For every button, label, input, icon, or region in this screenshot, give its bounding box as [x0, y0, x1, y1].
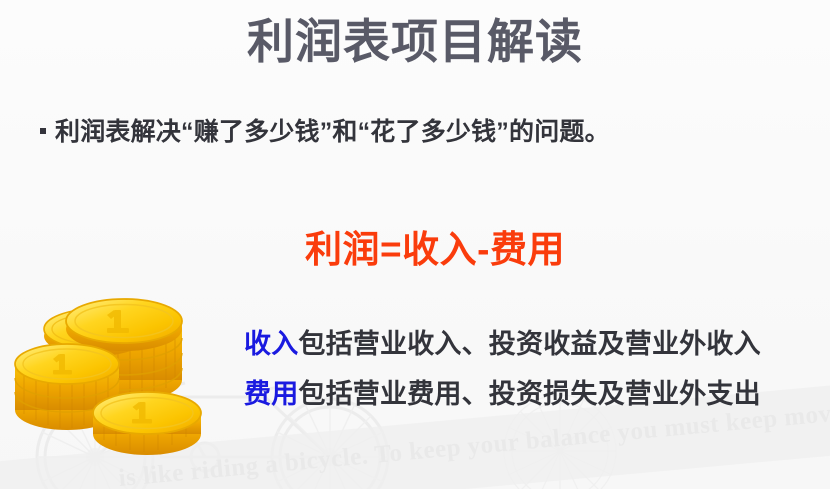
explanation-expense-keyword: 费用 — [244, 379, 298, 409]
explanation-expense-rest: 包括营业费用、投资损失及营业外支出 — [298, 379, 760, 409]
explanation-revenue: 收入包括营业收入、投资收益及营业外收入 — [244, 330, 761, 360]
explanation-revenue-rest: 包括营业收入、投资收益及营业外收入 — [298, 329, 760, 359]
explanation-expense: 费用包括营业费用、投资损失及营业外支出 — [244, 380, 761, 410]
gold-coin-stacks-icon — [14, 258, 224, 458]
watermark-quote: is like riding a bicycle. To keep your b… — [117, 396, 830, 489]
slide-canvas: is like riding a bicycle. To keep your b… — [0, 0, 830, 489]
profit-formula: 利润=收入-费用 — [250, 219, 620, 273]
page-title: 利润表项目解读 — [0, 14, 830, 69]
square-bullet-icon — [40, 128, 46, 134]
explanation-revenue-keyword: 收入 — [244, 329, 298, 359]
bullet-row: 利润表解决“赚了多少钱”和“花了多少钱”的问题。 — [40, 112, 820, 148]
bullet-text: 利润表解决“赚了多少钱”和“花了多少钱”的问题。 — [55, 112, 610, 148]
